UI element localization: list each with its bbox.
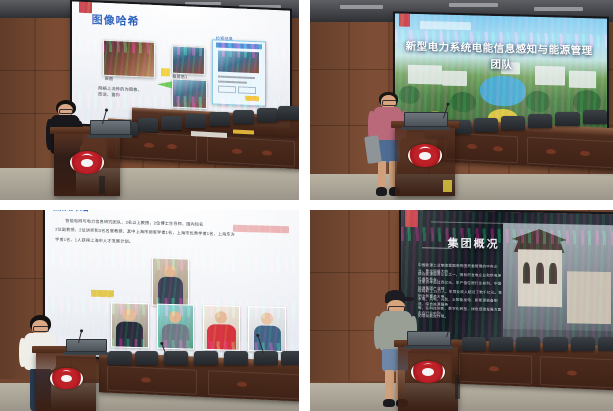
portrait-tile [202,305,240,351]
panel-bottom-right[interactable]: 集团概况 中国能源工业集团是国务院国资委管理的中央企业，是全国最大的 综合能源服… [310,210,613,411]
podium [54,132,120,196]
cable [99,176,105,194]
chair [571,337,595,351]
floor-marker [443,180,452,192]
chair [462,337,486,351]
highlight-marker [161,69,170,77]
chair [281,351,299,365]
slide-thumbnail [102,39,154,77]
slide-corner-logo [399,13,410,26]
podium [398,345,459,411]
chair [224,351,248,365]
chair [257,108,278,122]
lecture-hall-room: 新型电力系统电能信息感知与能源管理 团队 2023年6月 [310,0,613,200]
slide-thumbnail [172,79,207,109]
chair [474,118,498,132]
podium [36,351,96,411]
chair [278,106,299,120]
photo-grid-composite: 图像哈希 原图 裁剪后1 [0,0,613,411]
chair [161,116,182,130]
slide-result-card [211,39,265,107]
lecture-hall-room: 图像哈希 原图 裁剪后1 [0,0,299,200]
slide-title-line2: 团队 [490,60,512,71]
chair [516,337,540,351]
slide-thumbnail [172,46,205,75]
chair [194,351,218,365]
chair [138,118,159,132]
floor [310,174,613,200]
lecture-hall-room: 集团概况 中国能源工业集团是国务院国资委管理的中央企业，是全国最大的 综合能源服… [310,210,613,411]
slide-corner-logo [405,210,418,227]
laptop [90,120,129,138]
chair [233,110,254,124]
laptop [66,339,105,355]
chair [135,351,159,365]
lecture-hall-room: 团队介绍 智能电网与电力信息研究团队，3名以上教授，2位博士生导师，国内知名 2… [0,210,299,411]
chair [254,351,278,365]
highlight-marker [91,289,114,297]
slide-title: 集团概况 [448,239,500,251]
university-emblem [408,144,442,167]
chair [164,351,188,365]
slide-corner-logo [78,1,91,13]
panel-top-right[interactable]: 新型电力系统电能信息感知与能源管理 团队 2023年6月 [310,0,613,200]
thumb-caption-1: 原图 [104,76,112,82]
chair [528,114,552,128]
panel-bottom-left[interactable]: 团队介绍 智能电网与电力信息研究团队，3名以上教授，2位博士生导师，国内知名 2… [0,210,299,411]
chair [598,337,613,351]
university-emblem [70,151,104,174]
slide-header-logo [420,21,471,30]
panel-top-left[interactable]: 图像哈希 原图 裁剪后1 [0,0,299,200]
chair [501,116,525,130]
portrait-tile [152,257,190,306]
slide-photo-architecture [503,223,613,355]
cable [455,375,460,399]
chair [489,337,513,351]
slide-title: 图像哈希 [91,16,139,29]
university-emblem [411,361,445,384]
chair [185,114,206,128]
slide-caption-block: 网络上流传的为图像、图说、要你 [98,85,146,99]
chair [583,110,607,124]
chair [555,112,579,126]
portrait-tile [248,306,286,352]
chair [209,112,230,126]
laptop [404,112,446,130]
university-emblem [50,368,82,390]
thumb-caption-3: 检索结果 [216,36,233,43]
chair [543,337,567,351]
laptop [407,331,449,349]
portrait-tile [111,302,149,348]
chair [108,351,132,365]
